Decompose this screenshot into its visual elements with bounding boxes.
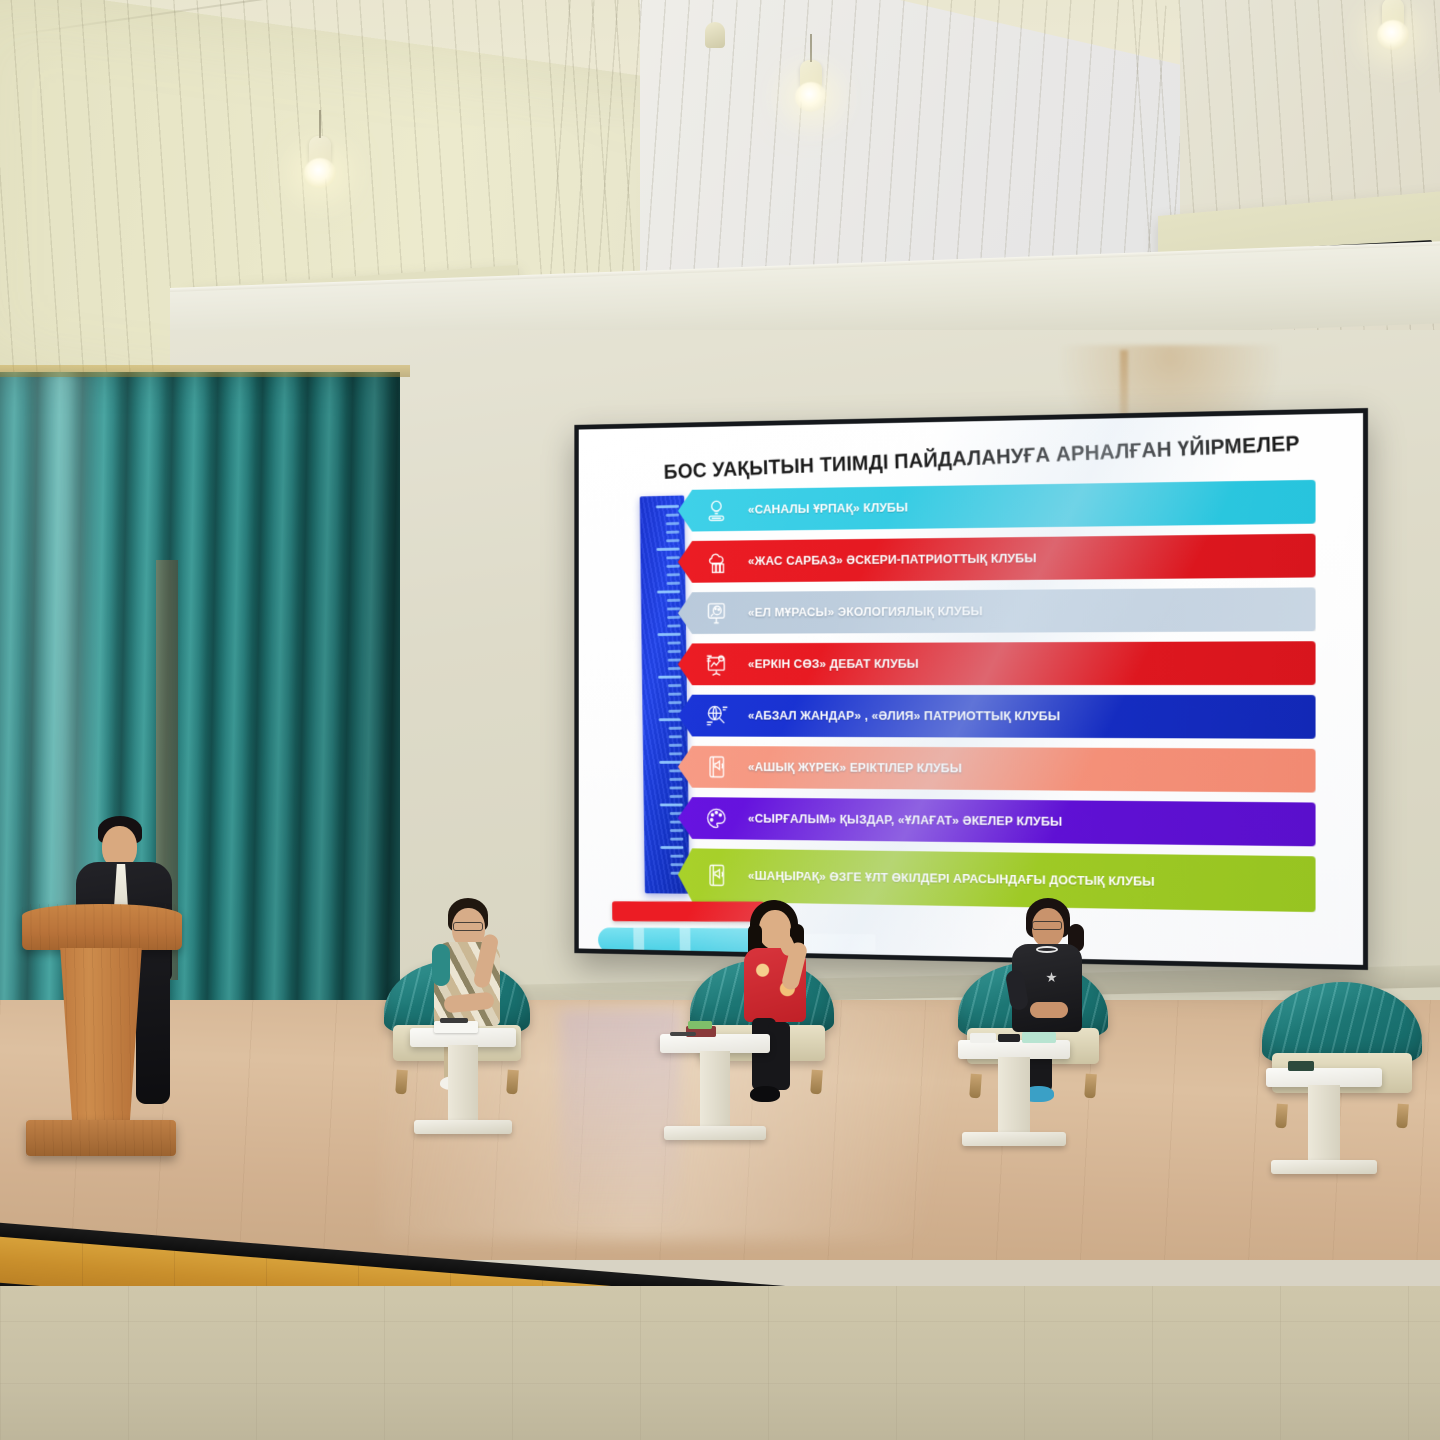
slide-bar-label: «САНАЛЫ ҰРПАҚ» КЛУБЫ xyxy=(748,500,908,517)
side-table-1 xyxy=(410,1028,516,1140)
speaker-book-icon xyxy=(701,751,732,784)
side-table-4 xyxy=(1266,1068,1382,1188)
curtain-rail xyxy=(0,365,410,377)
pen xyxy=(440,1018,468,1023)
slide-bar-label: «ЕРКІН СӨЗ» ДЕБАТ КЛУБЫ xyxy=(748,656,919,671)
slide-bars-list: «САНАЛЫ ҰРПАҚ» КЛУБЫ«ЖАС САРБАЗ» ӘСКЕРИ-… xyxy=(678,480,1316,922)
phone xyxy=(998,1034,1020,1042)
wooden-lectern xyxy=(22,904,182,1176)
slide-bar-label: «ШАҢЫРАҚ» ӨЗГЕ ҰЛТ ӨКІЛДЕРІ АРАСЫНДАҒЫ Д… xyxy=(748,868,1155,889)
cloud-books-icon xyxy=(701,545,732,578)
ceiling-spotlight-3 xyxy=(1382,0,1404,32)
projection-screen: БОС УАҚЫТЫН ТИІМДІ ПАЙДАЛАНУҒА АРНАЛҒАН … xyxy=(579,413,1363,965)
hall-tiled-floor xyxy=(0,1286,1440,1440)
slide-bar-6: «АШЫҚ ЖҮРЕК» ЕРІКТІЛЕР КЛУБЫ xyxy=(678,746,1316,793)
slide-bar-3: «ЕЛ МҰРАСЫ» ЭКОЛОГИЯЛЫҚ КЛУБЫ xyxy=(678,587,1316,634)
slide-bar-5: «АБЗАЛ ЖАНДАР» , «ӘЛИЯ» ПАТРИОТТЫҚ КЛУБЫ xyxy=(678,695,1316,739)
ruler-tick xyxy=(657,590,680,593)
palette-monitor-icon xyxy=(701,597,732,630)
slide-bar-label: «АБЗАЛ ЖАНДАР» , «ӘЛИЯ» ПАТРИОТТЫҚ КЛУБЫ xyxy=(748,708,1060,724)
glasses-icon xyxy=(1032,921,1062,930)
side-table-2 xyxy=(660,1034,770,1146)
ceiling-spotlight-1 xyxy=(309,136,331,170)
side-table-3 xyxy=(958,1040,1070,1152)
slide-bar-4: «ЕРКІН СӨЗ» ДЕБАТ КЛУБЫ xyxy=(678,641,1316,685)
pen xyxy=(670,1032,696,1036)
green-notebook xyxy=(688,1021,712,1029)
presentation-chart-icon xyxy=(701,648,732,680)
ruler-tick xyxy=(656,548,679,551)
collar-trim xyxy=(1036,946,1058,953)
lightbulb-icon xyxy=(701,494,732,527)
slide-bar-label: «ЖАС САРБАЗ» ӘСКЕРИ-ПАТРИОТТЫҚ КЛУБЫ xyxy=(748,551,1037,569)
paper-stack xyxy=(970,1033,996,1043)
speaker-book-icon xyxy=(701,859,732,892)
slide-bar-2: «ЖАС САРБАЗ» ӘСКЕРИ-ПАТРИОТТЫҚ КЛУБЫ xyxy=(678,534,1316,583)
slide-bar-7: «СЫРҒАЛЫМ» ҚЫЗДАР, «ҰЛАҒАТ» ӘКЕЛЕР КЛУБЫ xyxy=(678,797,1316,846)
palette-brush-icon xyxy=(701,802,732,835)
slide-bar-label: «ЕЛ МҰРАСЫ» ЭКОЛОГИЯЛЫҚ КЛУБЫ xyxy=(748,604,983,620)
projection-screen-frame: БОС УАҚЫТЫН ТИІМДІ ПАЙДАЛАНУҒА АРНАЛҒАН … xyxy=(574,408,1368,970)
glasses-icon xyxy=(453,922,483,931)
slide-bar-label: «СЫРҒАЛЫМ» ҚЫЗДАР, «ҰЛАҒАТ» ӘКЕЛЕР КЛУБЫ xyxy=(748,811,1062,829)
slide-bar-1: «САНАЛЫ ҰРПАҚ» КЛУБЫ xyxy=(678,480,1316,532)
ceiling-spotlight-2 xyxy=(800,60,822,94)
ceiling-cable-anchor xyxy=(705,22,725,48)
remote-control xyxy=(1288,1061,1314,1071)
slide-title: БОС УАҚЫТЫН ТИІМДІ ПАЙДАЛАНУҒА АРНАЛҒАН … xyxy=(628,430,1339,486)
green-card xyxy=(1022,1032,1056,1043)
assembly-hall-scene: БОС УАҚЫТЫН ТИІМДІ ПАЙДАЛАНУҒА АРНАЛҒАН … xyxy=(0,0,1440,1440)
globe-search-icon xyxy=(701,699,732,731)
slide-bar-label: «АШЫҚ ЖҮРЕК» ЕРІКТІЛЕР КЛУБЫ xyxy=(748,760,962,776)
